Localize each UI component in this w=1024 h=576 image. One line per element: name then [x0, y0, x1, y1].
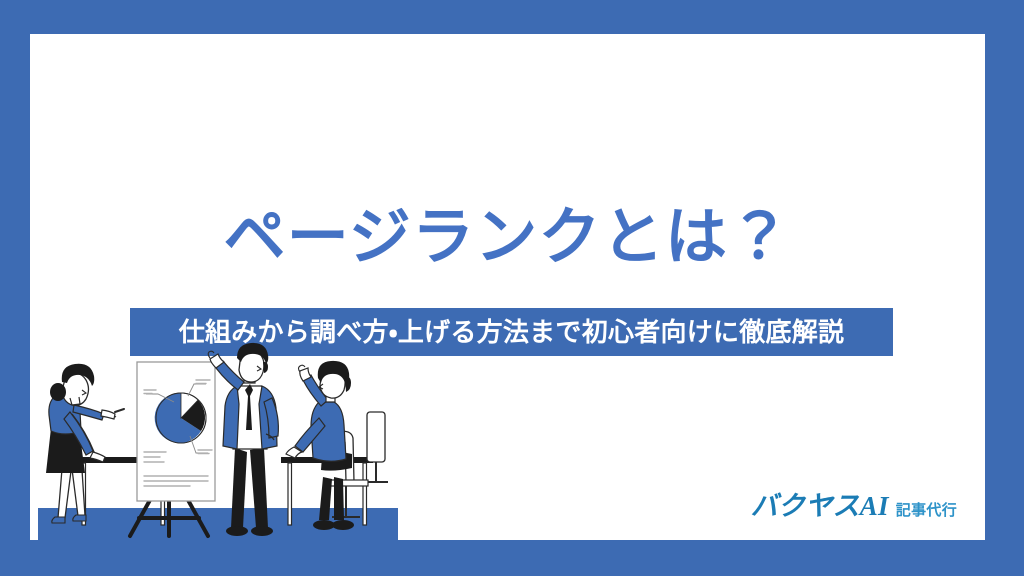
- figure-seated-person: [286, 361, 354, 530]
- brand-logo: バクヤスAI 記事代行: [751, 493, 957, 520]
- illustration-svg: [38, 340, 398, 540]
- brand-logo-subtitle: 記事代行: [896, 503, 957, 518]
- page-title: ページランクとは？: [30, 202, 985, 273]
- brand-logo-mark: バクヤスAI: [751, 493, 889, 520]
- inner-white-canvas: ページランクとは？ 仕組みから調べ方・上げる方法まで初心者向けに徹底解説 バクヤ…: [30, 34, 985, 540]
- monitor: [366, 412, 388, 482]
- title-block: ページランクとは？: [30, 202, 985, 273]
- figure-man-presenting: [208, 343, 278, 536]
- business-team-illustration: [38, 340, 398, 540]
- slide-canvas: ページランクとは？ 仕組みから調べ方・上げる方法まで初心者向けに徹底解説 バクヤ…: [0, 0, 1024, 576]
- pie-chart-on-board: [155, 393, 206, 443]
